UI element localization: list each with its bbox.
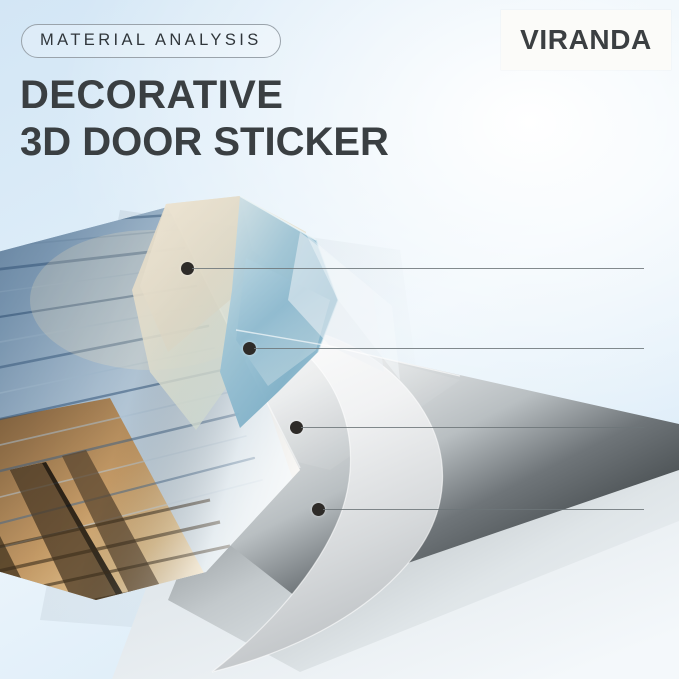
brand-name: VIRANDA (520, 24, 652, 56)
brand-logo: VIRANDA (501, 10, 671, 70)
callout-leader-line-3 (301, 427, 644, 428)
callout-leader-line-4 (323, 509, 644, 510)
eyebrow-badge: MATERIAL ANALYSIS (21, 24, 281, 58)
poster-canvas: MATERIAL ANALYSIS DECORATIVE 3D DOOR STI… (0, 0, 679, 679)
title-line-1: DECORATIVE (20, 72, 389, 119)
callout-leader-line-1 (192, 268, 644, 269)
page-title: DECORATIVE 3D DOOR STICKER (20, 72, 389, 166)
title-line-2: 3D DOOR STICKER (20, 119, 389, 166)
callout-leader-line-2 (254, 348, 644, 349)
